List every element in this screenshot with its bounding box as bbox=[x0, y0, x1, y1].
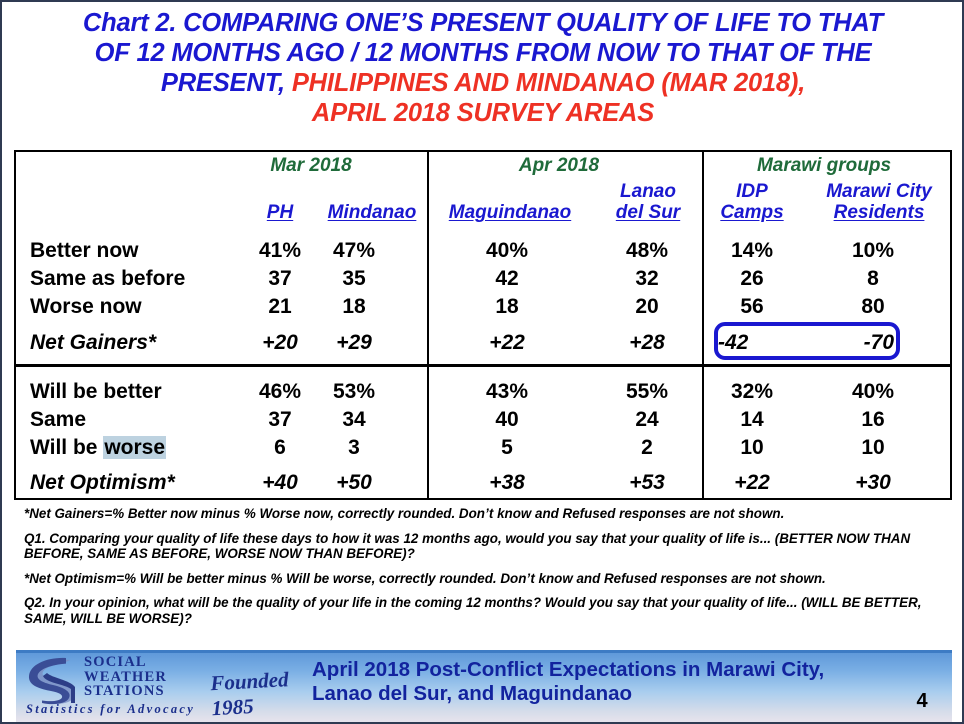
table-cell: 21 bbox=[242, 295, 318, 319]
table-border-bottom bbox=[14, 498, 952, 500]
table-border-right bbox=[950, 150, 952, 500]
table-cell: 2 bbox=[586, 436, 708, 460]
table-cell: +29 bbox=[316, 331, 392, 355]
table-row-label-net-gainers: Net Gainers* bbox=[30, 331, 156, 355]
footer-title-line-2: Lanao del Sur, and Maguindanao bbox=[312, 682, 892, 706]
footer-title-line-1: April 2018 Post-Conflict Expectations in… bbox=[312, 658, 892, 682]
table-cell: 34 bbox=[316, 408, 392, 432]
logo-tagline: Statistics for Advocacy bbox=[26, 702, 286, 717]
table-cell: 8 bbox=[828, 267, 918, 291]
title-segment-red: APRIL 2018 SURVEY AREAS bbox=[312, 99, 654, 127]
table-cell: +22 bbox=[710, 471, 794, 495]
table-cell: +28 bbox=[586, 331, 708, 355]
table-cell: 18 bbox=[442, 295, 572, 319]
table-cell: 46% bbox=[242, 380, 318, 404]
footnote-q2: Q2. In your opinion, what will be the qu… bbox=[24, 595, 938, 626]
table-cell: +22 bbox=[442, 331, 572, 355]
table-cell: 10 bbox=[710, 436, 794, 460]
table-cell: 16 bbox=[828, 408, 918, 432]
table-cell: +30 bbox=[828, 471, 918, 495]
slide-title: Chart 2. COMPARING ONE’S PRESENT QUALITY… bbox=[16, 8, 950, 128]
table-row-label-net-optimism: Net Optimism* bbox=[30, 471, 175, 495]
table-cell: 40% bbox=[828, 380, 918, 404]
row-label-highlight: worse bbox=[103, 436, 166, 459]
table-cell: 20 bbox=[586, 295, 708, 319]
sws-swoosh-icon bbox=[26, 656, 82, 706]
table-border-top bbox=[14, 150, 952, 152]
table-cell: 18 bbox=[316, 295, 392, 319]
footer-top-rule bbox=[16, 650, 952, 653]
table-row-label-better-now: Better now bbox=[30, 239, 139, 263]
title-line-1: Chart 2. COMPARING ONE’S PRESENT QUALITY… bbox=[16, 8, 950, 38]
table-row-label-will-be-better: Will be better bbox=[30, 380, 162, 404]
table-column-divider-1 bbox=[427, 152, 429, 364]
title-segment-red: PHILIPPINES AND MINDANAO (MAR 2018), bbox=[292, 69, 805, 97]
footer-title: April 2018 Post-Conflict Expectations in… bbox=[312, 658, 892, 706]
title-segment: Chart 2. COMPARING ONE’S PRESENT QUALITY… bbox=[83, 9, 883, 37]
table-cell: 37 bbox=[242, 408, 318, 432]
table-row-label-same-as-before: Same as before bbox=[30, 267, 185, 291]
footnote-q1: Q1. Comparing your quality of life these… bbox=[24, 531, 938, 562]
table-section-divider bbox=[14, 364, 952, 367]
table-cell: 10% bbox=[828, 239, 918, 263]
table-cell: 47% bbox=[316, 239, 392, 263]
table-cell: 6 bbox=[242, 436, 318, 460]
table-cell: +20 bbox=[242, 331, 318, 355]
row-label-prefix: Will be bbox=[30, 436, 103, 459]
logo-line-social: SOCIAL bbox=[84, 655, 296, 670]
table-cell: +38 bbox=[442, 471, 572, 495]
table-cell: 40% bbox=[442, 239, 572, 263]
footer-bar: SOCIAL WEATHER STATIONS Founded 1985 Sta… bbox=[16, 650, 952, 722]
footnote-net-optimism: *Net Optimism=% Will be better minus % W… bbox=[24, 571, 938, 587]
table-cell: 43% bbox=[442, 380, 572, 404]
title-line-4: APRIL 2018 SURVEY AREAS bbox=[16, 98, 950, 128]
table-cell: 3 bbox=[316, 436, 392, 460]
table-cell: 32% bbox=[710, 380, 794, 404]
table-cell: 40 bbox=[442, 408, 572, 432]
page-number: 4 bbox=[906, 690, 938, 713]
footnotes: *Net Gainers=% Better now minus % Worse … bbox=[24, 506, 938, 626]
table-cell: 53% bbox=[316, 380, 392, 404]
table-cell: 55% bbox=[586, 380, 708, 404]
table-cell: 56 bbox=[710, 295, 794, 319]
table-cell: 48% bbox=[586, 239, 708, 263]
table-border-left bbox=[14, 150, 16, 500]
title-line-2: OF 12 MONTHS AGO / 12 MONTHS FROM NOW TO… bbox=[16, 38, 950, 68]
sws-logo-wordmark: SOCIAL WEATHER STATIONS Founded 1985 bbox=[84, 655, 296, 699]
table-cell: +53 bbox=[586, 471, 708, 495]
table-cell: +40 bbox=[242, 471, 318, 495]
table-row-label-worse-now: Worse now bbox=[30, 295, 142, 319]
table-cell: 80 bbox=[828, 295, 918, 319]
sws-logo: SOCIAL WEATHER STATIONS Founded 1985 Sta… bbox=[24, 654, 296, 718]
footnote-net-gainers: *Net Gainers=% Better now minus % Worse … bbox=[24, 506, 938, 522]
table-column-divider-1b bbox=[427, 367, 429, 498]
table-cell: 41% bbox=[242, 239, 318, 263]
title-line-3: PRESENT, PHILIPPINES AND MINDANAO (MAR 2… bbox=[16, 68, 950, 98]
table-cell-highlighted: -42 bbox=[718, 331, 778, 355]
table-cell: 10 bbox=[828, 436, 918, 460]
table-cell: 42 bbox=[442, 267, 572, 291]
table-cell: 14% bbox=[710, 239, 794, 263]
slide-canvas: Chart 2. COMPARING ONE’S PRESENT QUALITY… bbox=[0, 0, 964, 724]
title-segment: PRESENT, bbox=[161, 69, 292, 97]
table-cell: +50 bbox=[316, 471, 392, 495]
table-cell: 32 bbox=[586, 267, 708, 291]
table-cell: 35 bbox=[316, 267, 392, 291]
table-cell: 37 bbox=[242, 267, 318, 291]
table-cell: 26 bbox=[710, 267, 794, 291]
table-cell: 14 bbox=[710, 408, 794, 432]
table-row-label-same: Same bbox=[30, 408, 86, 432]
title-segment: OF 12 MONTHS AGO / 12 MONTHS FROM NOW TO… bbox=[95, 39, 872, 67]
table-row-label-will-be-worse: Will be worse bbox=[30, 436, 166, 460]
table-cell: 24 bbox=[586, 408, 708, 432]
table-cell-highlighted: -70 bbox=[828, 331, 894, 355]
table-cell: 5 bbox=[442, 436, 572, 460]
